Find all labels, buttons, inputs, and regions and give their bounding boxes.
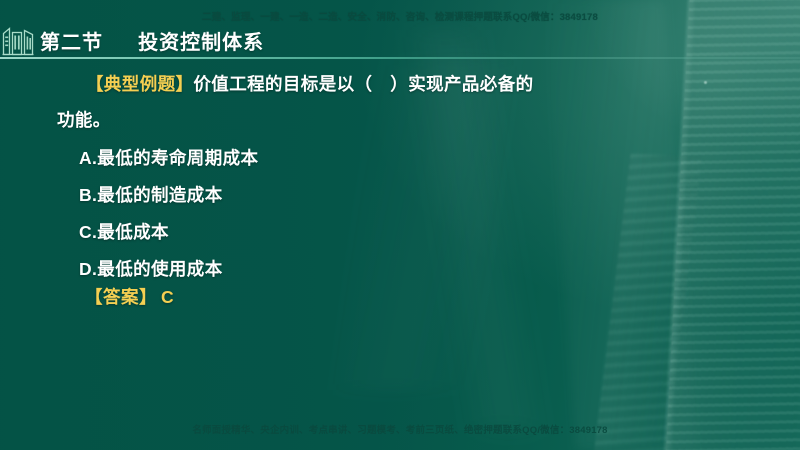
slide-canvas: 二建、监理、一建、一造、二造、安全、消防、咨询、检测课程押题联系QQ/微信：38… [0, 0, 800, 450]
option-c[interactable]: C.最低成本 [79, 214, 258, 251]
question-stem-line-1: 【典型例题】价值工程的目标是以（ ）实现产品必备的 [86, 71, 534, 96]
section-number: 第二节 [40, 32, 103, 54]
question-tag: 【典型例题】 [86, 74, 193, 94]
bottom-promo-text: 名师面授精华、央企内训、考点串讲、习题模考、考前三页纸、绝密押题联系QQ/微信：… [0, 422, 800, 436]
background-tower-edge [663, 0, 696, 450]
background-tower-far [544, 0, 695, 450]
building-icon [2, 23, 34, 57]
background-tower-secondary [594, 154, 702, 450]
background-tower-main [665, 0, 800, 450]
question-stem-line-2: 功能。 [57, 107, 111, 132]
option-b[interactable]: B.最低的制造成本 [79, 177, 258, 214]
page-title: 第二节 投资控制体系 [40, 26, 264, 55]
question-stem-text-1: 价值工程的目标是以（ ）实现产品必备的 [193, 74, 533, 94]
answer-label: 【答案】 [85, 287, 157, 307]
option-list: A.最低的寿命周期成本 B.最低的制造成本 C.最低成本 D.最低的使用成本 [79, 140, 258, 288]
background-sky-glow [500, 0, 800, 220]
answer-row: 【答案】C [85, 284, 174, 309]
answer-value: C [161, 287, 174, 307]
slide-header: 第二节 投资控制体系 [0, 24, 264, 56]
top-promo-text: 二建、监理、一建、一造、二造、安全、消防、咨询、检测课程押题联系QQ/微信：38… [0, 9, 800, 23]
section-title-text: 投资控制体系 [138, 32, 264, 54]
header-divider [0, 57, 800, 59]
option-a[interactable]: A.最低的寿命周期成本 [79, 140, 258, 177]
option-d[interactable]: D.最低的使用成本 [79, 251, 258, 288]
background-ghost-building-left [335, 60, 516, 390]
background-light-speck [704, 81, 707, 84]
